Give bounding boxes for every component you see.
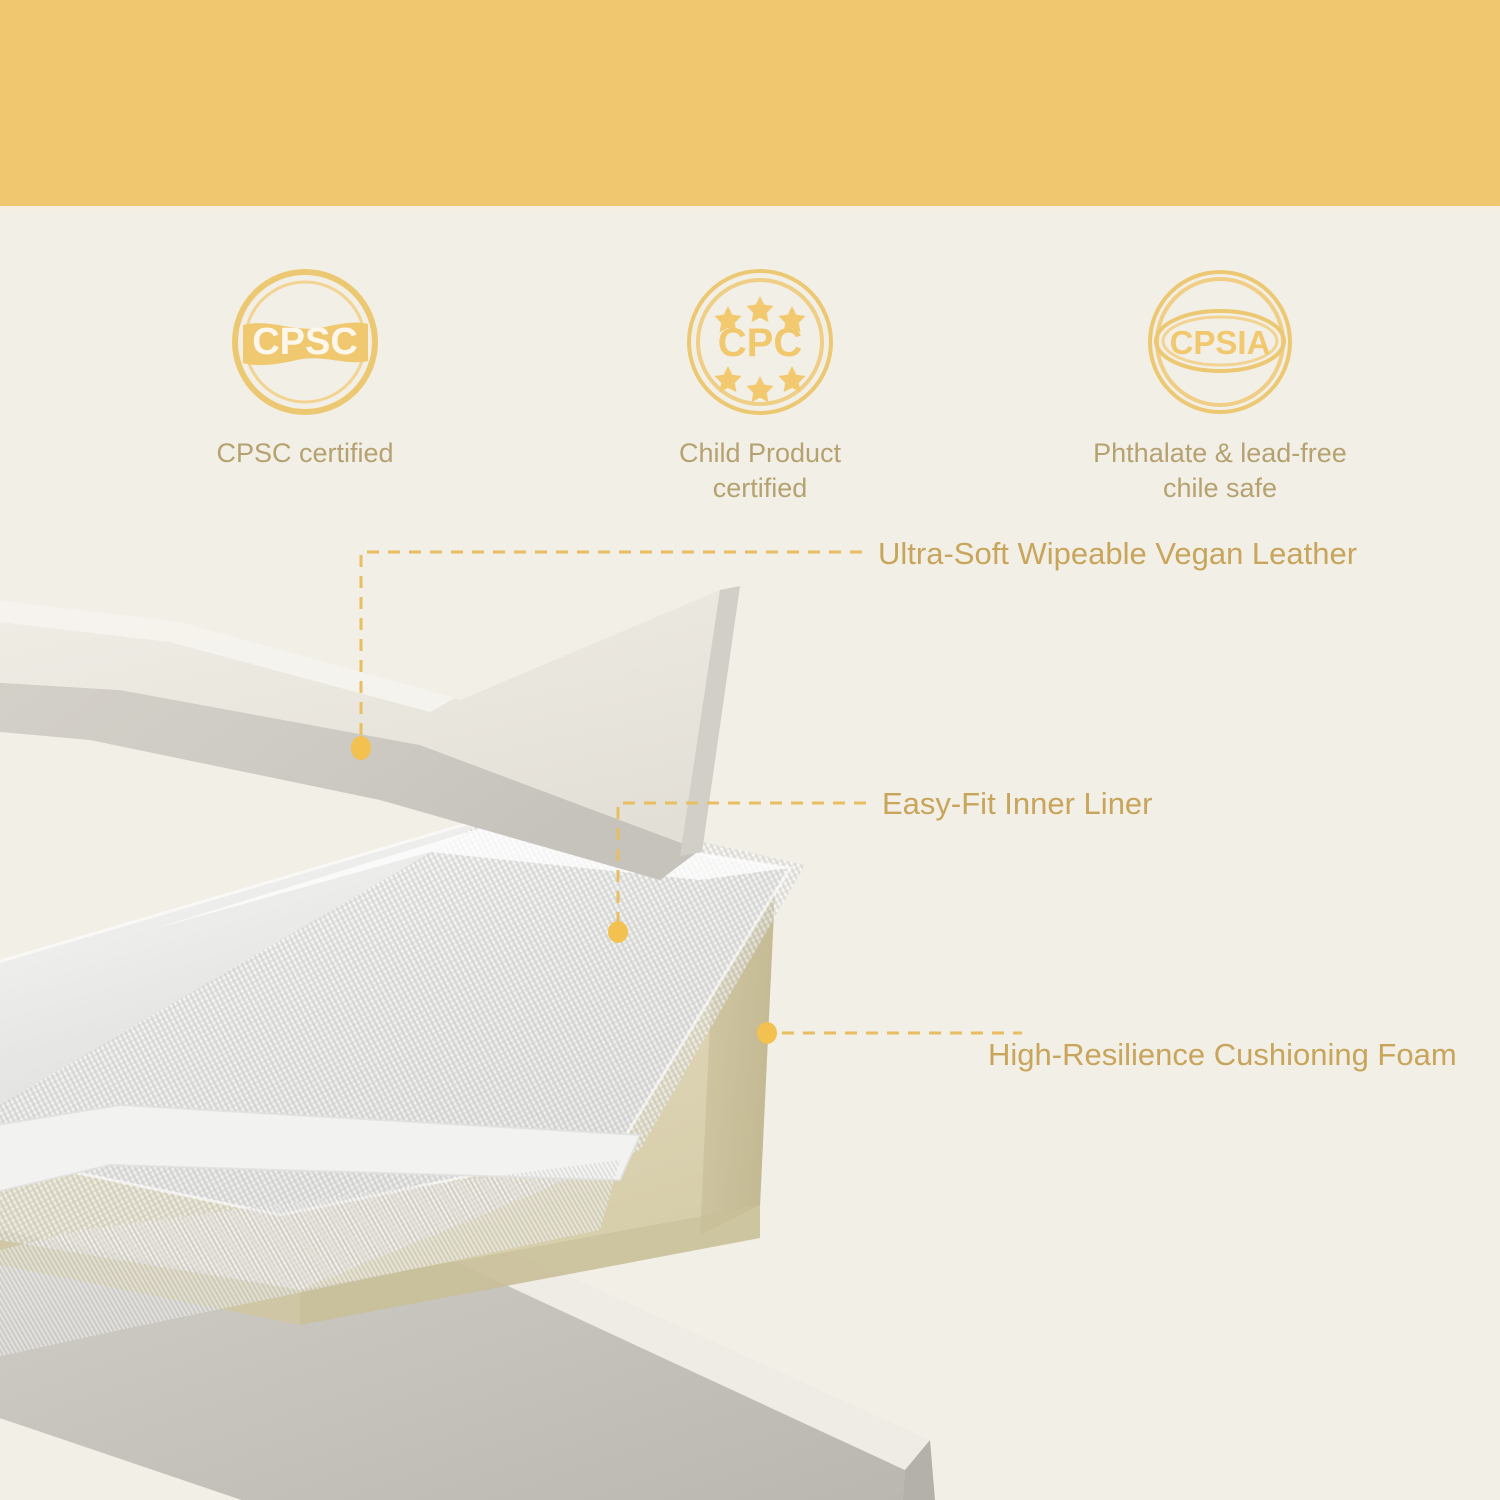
callout-label-vegan-leather: Ultra-Soft Wipeable Vegan Leather: [878, 536, 1357, 572]
exploded-layer-illustration: [0, 0, 1500, 1500]
badge-cpsc: CPSC CPSC certified: [135, 262, 475, 471]
cpsc-mark-text: CPSC: [252, 321, 358, 363]
product-infographic: Engineered for Infants Cloud-Like Softne…: [0, 0, 1500, 1500]
cpsia-globe-seal-icon: CPSIA: [1140, 262, 1300, 422]
cpc-stars-seal-icon: CPC: [680, 262, 840, 422]
certification-badge-row: CPSC CPSC certified: [0, 262, 1500, 502]
cpsia-mark-text: CPSIA: [1170, 324, 1271, 361]
badge-cpsia-caption: Phthalate & lead-free chile safe: [1050, 436, 1390, 506]
callout-label-inner-liner: Easy-Fit Inner Liner: [882, 786, 1153, 822]
header-underline-divider: [0, 206, 1500, 213]
cpsc-seal-icon: CPSC: [225, 262, 385, 422]
badge-cpsia: CPSIA Phthalate & lead-free chile safe: [1050, 262, 1390, 506]
badge-cpc-caption: Child Product certified: [590, 436, 930, 506]
header-band: [0, 0, 1500, 206]
cpc-mark-text: CPC: [718, 321, 802, 365]
badge-cpc: CPC Child Product certified: [590, 262, 930, 506]
badge-cpsc-caption: CPSC certified: [135, 436, 475, 471]
vegan-leather-layer: [0, 586, 740, 880]
callout-label-cushioning-foam: High-Resilience Cushioning Foam: [988, 1037, 1457, 1073]
